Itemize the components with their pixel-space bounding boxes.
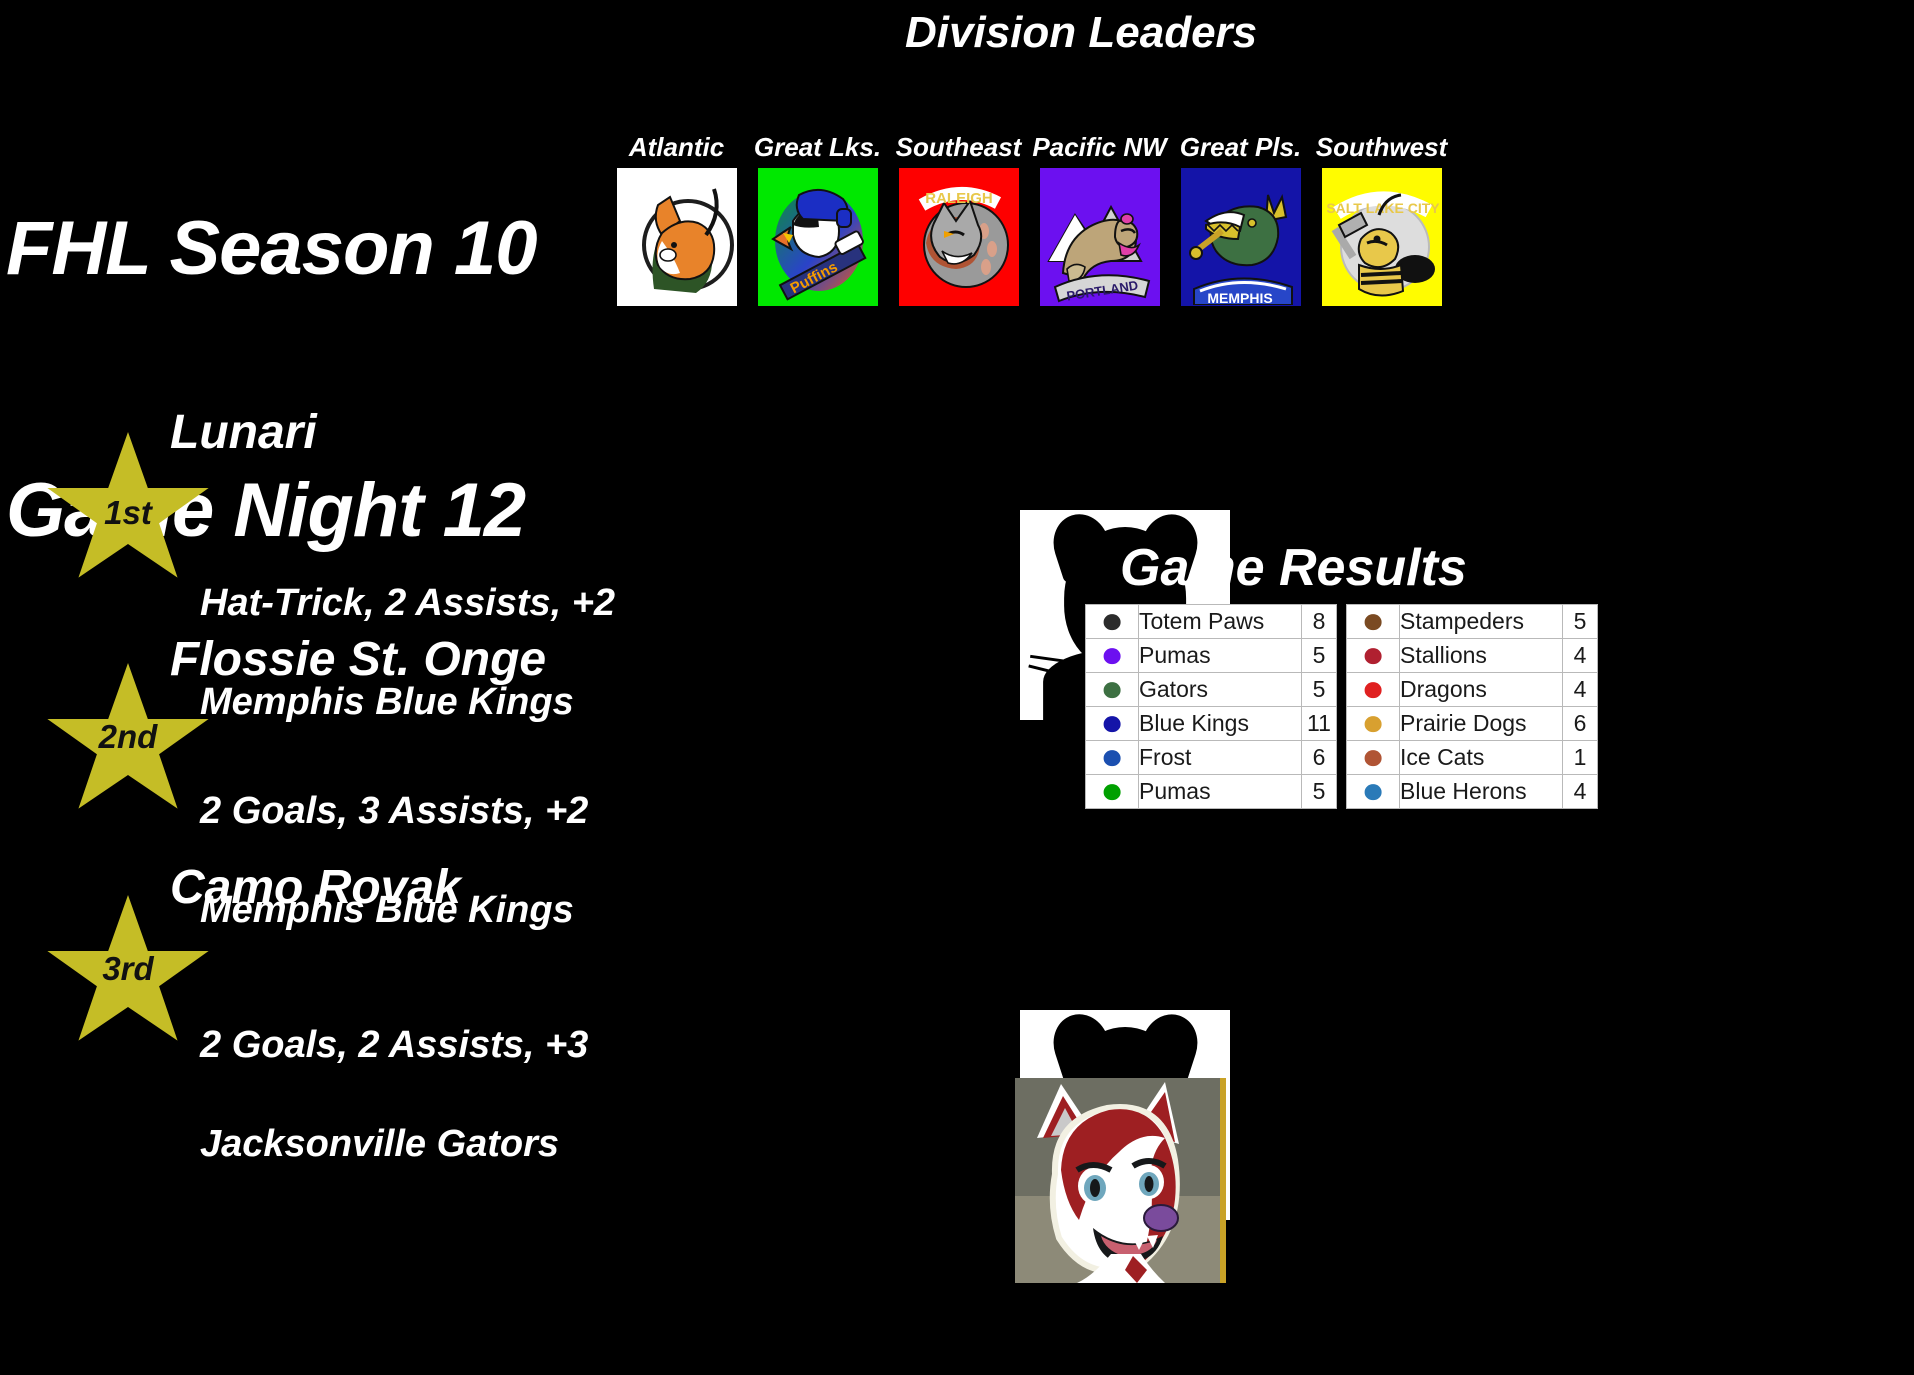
team-score-cell: 11 (1302, 707, 1337, 741)
table-row[interactable]: Dragons 4 (1347, 673, 1598, 707)
team-score-cell: 5 (1302, 673, 1337, 707)
game-results-table-right: Stampeders 5 Stallions 4 Dragons 4 (1346, 604, 1598, 809)
team-name-cell: Totem Paws (1139, 605, 1302, 639)
performer-name-3: Camo Rovak (170, 860, 461, 915)
team-name-cell: Gators (1139, 673, 1302, 707)
division-label: Great Lks. (754, 132, 881, 163)
team-logo-icon (1358, 710, 1388, 738)
game-results-tables: Totem Paws 8 Pumas 5 Gators 5 (1085, 604, 1598, 809)
team-logo-portland-pumas[interactable]: PORTLAND (1040, 168, 1160, 306)
table-row[interactable]: Gators 5 (1086, 673, 1337, 707)
team-score-cell: 4 (1563, 673, 1598, 707)
team-logo-icon (1358, 642, 1388, 670)
performer-team-3: Jacksonville Gators (200, 1123, 559, 1165)
division-cell-great-lakes[interactable]: Great Lks. (753, 132, 882, 306)
team-name-cell: Stampeders (1400, 605, 1563, 639)
table-row[interactable]: Blue Herons 4 (1347, 775, 1598, 809)
team-name-cell: Dragons (1400, 673, 1563, 707)
table-row[interactable]: Prairie Dogs 6 (1347, 707, 1598, 741)
rank-label-1: 1st (44, 494, 212, 532)
team-name-cell: Pumas (1139, 639, 1302, 673)
team-logo-icon (1358, 778, 1388, 806)
team-score-cell: 5 (1302, 639, 1337, 673)
table-row[interactable]: Stampeders 5 (1347, 605, 1598, 639)
team-logo-puffins[interactable]: Puffins (758, 168, 878, 306)
team-logo-cell (1086, 673, 1139, 707)
table-row[interactable]: Pumas 5 (1086, 639, 1337, 673)
performer-stats-line-2: 2 Goals, 3 Assists, +2 (200, 790, 588, 832)
game-results-heading: Game Results (1120, 538, 1467, 598)
table-row[interactable]: Frost 6 (1086, 741, 1337, 775)
team-score-cell: 5 (1302, 775, 1337, 809)
team-logo-icon (1358, 676, 1388, 704)
team-name-cell: Frost (1139, 741, 1302, 775)
team-score-cell: 8 (1302, 605, 1337, 639)
team-logo-raleigh-ice-cats[interactable]: RALEIGH (899, 168, 1019, 306)
portrait-camo-rovak[interactable] (1015, 1078, 1226, 1283)
team-logo-salt-lake-city-killer-bees[interactable]: SALT LAKE CITY (1322, 168, 1442, 306)
table-row[interactable]: Pumas 5 (1086, 775, 1337, 809)
division-label: Southwest (1316, 132, 1447, 163)
team-logo-icon (1358, 744, 1388, 772)
team-logo-icon (1097, 710, 1127, 738)
performer-stats-3: 2 Goals, 2 Assists, +3 Jacksonville Gato… (200, 972, 588, 1170)
team-logo-icon (1097, 778, 1127, 806)
division-cell-southeast[interactable]: Southeast RALEIGH (894, 132, 1023, 306)
table-row[interactable]: Stallions 4 (1347, 639, 1598, 673)
team-name-cell: Blue Kings (1139, 707, 1302, 741)
table-divider (1337, 604, 1346, 809)
division-label: Atlantic (629, 132, 724, 163)
team-logo-icon (1097, 676, 1127, 704)
division-label: Southeast (896, 132, 1022, 163)
table-row[interactable]: Ice Cats 1 (1347, 741, 1598, 775)
division-label: Pacific NW (1032, 132, 1166, 163)
team-name-cell: Blue Herons (1400, 775, 1563, 809)
team-score-cell: 4 (1563, 775, 1598, 809)
division-cell-southwest[interactable]: Southwest SALT LAKE CITY (1317, 132, 1446, 306)
team-score-cell: 6 (1563, 707, 1598, 741)
team-logo-cell (1347, 775, 1400, 809)
team-logo-cell (1086, 639, 1139, 673)
team-logo-cell (1347, 673, 1400, 707)
team-logo-cell (1086, 741, 1139, 775)
division-leaders-heading: Division Leaders (905, 8, 1257, 58)
division-label: Great Pls. (1180, 132, 1301, 163)
performer-name-2: Flossie St. Onge (170, 632, 546, 687)
performer-name-1: Lunari (170, 405, 317, 460)
team-name-cell: Pumas (1139, 775, 1302, 809)
performer-stats-line-1: Hat-Trick, 2 Assists, +2 (200, 582, 615, 624)
team-logo-cell (1086, 605, 1139, 639)
division-cell-pacific-nw[interactable]: Pacific NW PORTLAND (1035, 132, 1164, 306)
game-results-table-left: Totem Paws 8 Pumas 5 Gators 5 (1085, 604, 1337, 809)
team-name-cell: Stallions (1400, 639, 1563, 673)
team-logo-icon (1097, 642, 1127, 670)
division-cell-atlantic[interactable]: Atlantic (612, 132, 741, 306)
team-logo-cell (1347, 741, 1400, 775)
team-logo-icon (1358, 608, 1388, 636)
svg-text:MEMPHIS: MEMPHIS (1207, 290, 1272, 305)
team-score-cell: 1 (1563, 741, 1598, 775)
team-logo-memphis-blue-kings[interactable]: MEMPHIS (1181, 168, 1301, 306)
table-row[interactable]: Totem Paws 8 (1086, 605, 1337, 639)
svg-text:RALEIGH: RALEIGH (925, 190, 993, 207)
table-row[interactable]: Blue Kings 11 (1086, 707, 1337, 741)
rank-label-2: 2nd (44, 718, 212, 756)
division-leaders-strip: Atlantic Great Lks. (612, 132, 1446, 306)
rank-label-3: 3rd (44, 950, 212, 988)
performer-team-1: Memphis Blue Kings (200, 681, 574, 723)
team-score-cell: 6 (1302, 741, 1337, 775)
team-logo-cell (1347, 639, 1400, 673)
team-logo-icon (1097, 744, 1127, 772)
team-score-cell: 4 (1563, 639, 1598, 673)
team-name-cell: Prairie Dogs (1400, 707, 1563, 741)
team-logo-icon (1097, 608, 1127, 636)
team-score-cell: 5 (1563, 605, 1598, 639)
team-name-cell: Ice Cats (1400, 741, 1563, 775)
performer-stats-1: Hat-Trick, 2 Assists, +2 Memphis Blue Ki… (200, 530, 615, 728)
team-logo-newfoundland-beothuks[interactable] (617, 168, 737, 306)
team-logo-cell (1347, 707, 1400, 741)
performer-stats-line-3: 2 Goals, 2 Assists, +3 (200, 1024, 588, 1066)
team-logo-cell (1086, 707, 1139, 741)
division-cell-great-plains[interactable]: Great Pls. MEMPHIS (1176, 132, 1305, 306)
team-logo-cell (1086, 775, 1139, 809)
team-logo-cell (1347, 605, 1400, 639)
